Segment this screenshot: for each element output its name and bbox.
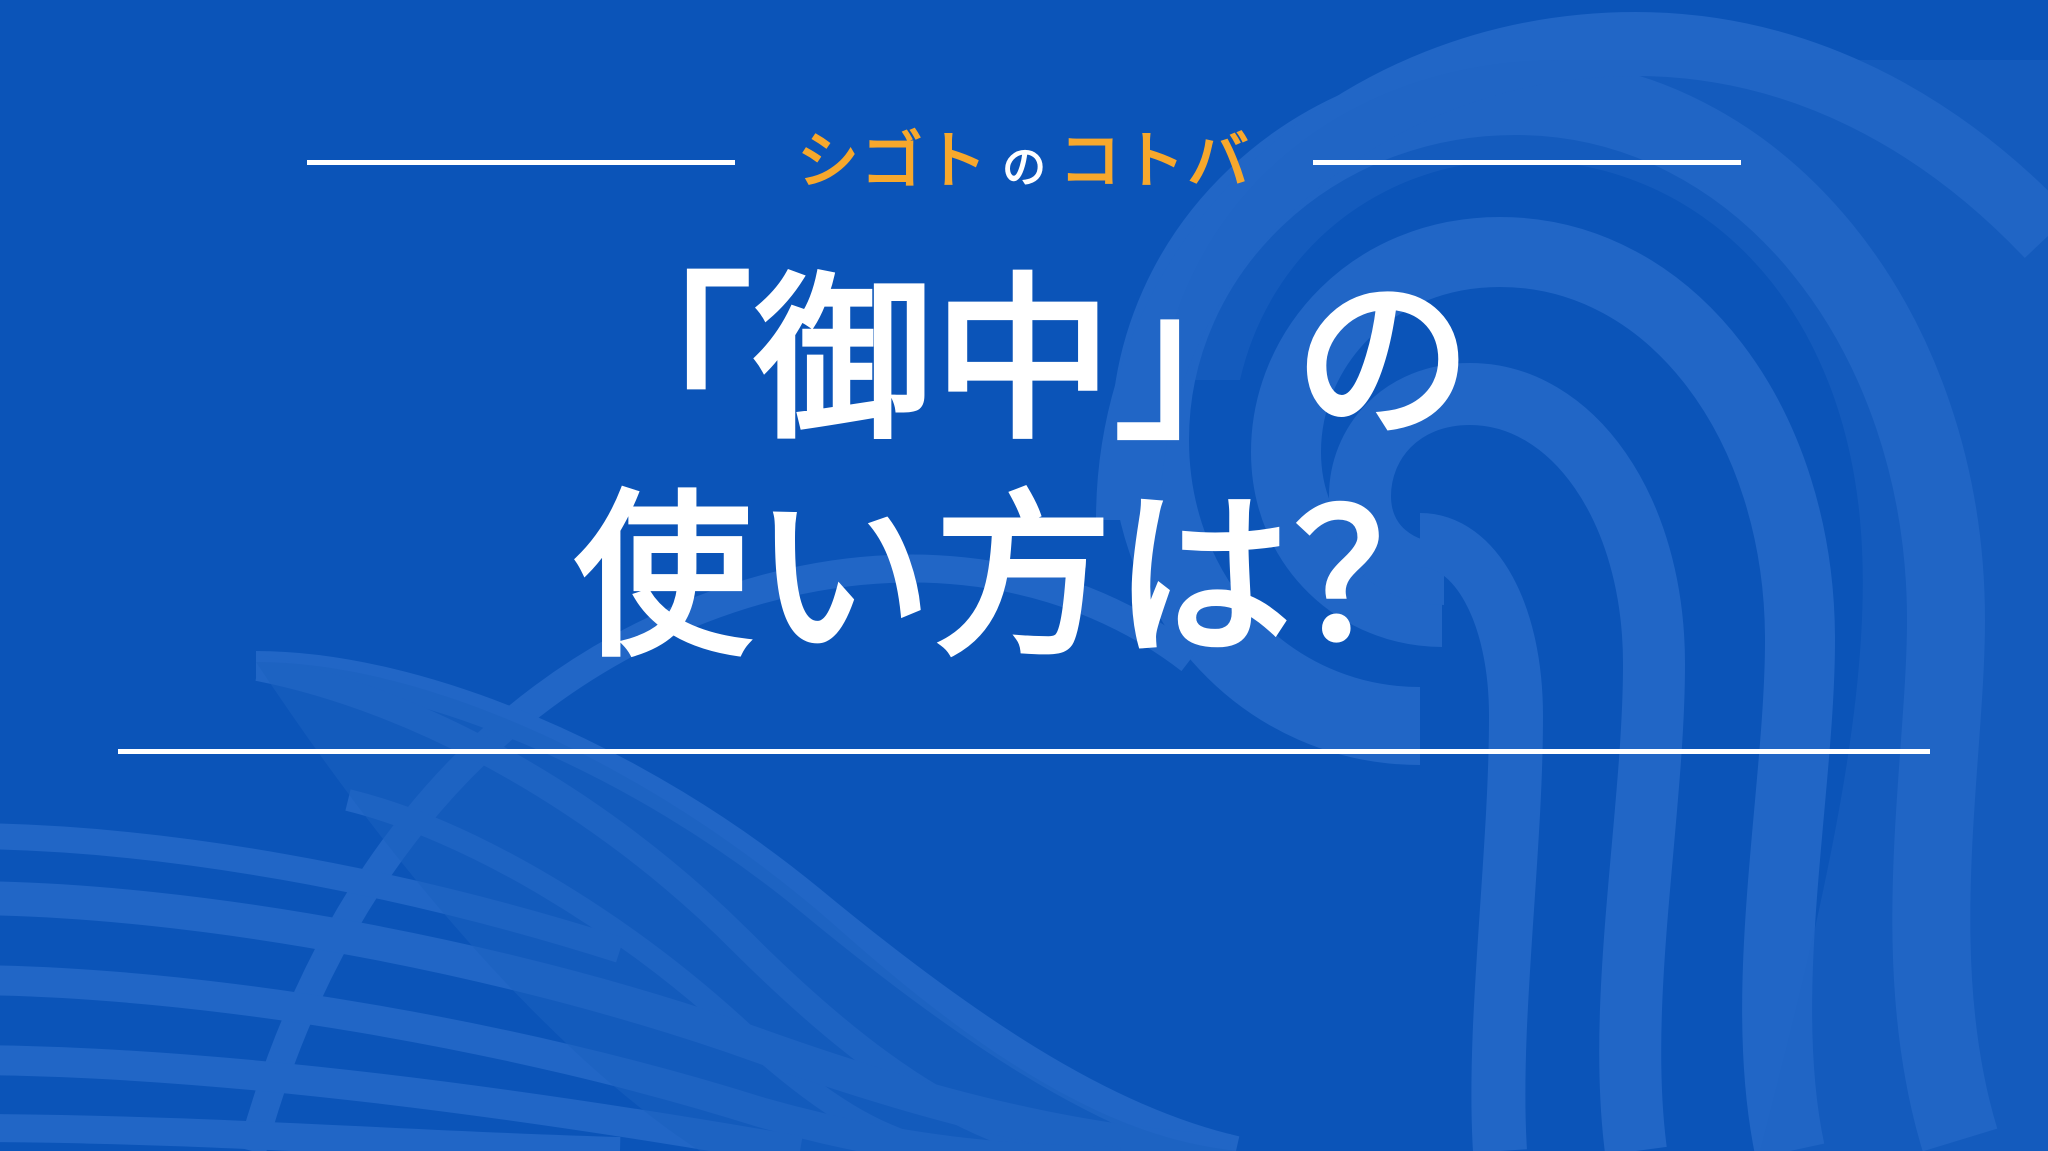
divider-left — [307, 160, 735, 165]
title-line-2: 使い方は？ — [0, 469, 2048, 686]
kicker-text: シゴト の コトバ — [797, 131, 1251, 193]
wave-leaf-shape — [256, 662, 1240, 1151]
kicker-part-2: コトバ — [1059, 131, 1251, 193]
kicker-part-1: シゴト — [797, 131, 989, 193]
divider-right — [1313, 160, 1741, 165]
title-line-1: 「御中」の — [0, 252, 2048, 469]
kicker-particle: の — [1002, 146, 1046, 190]
page-title: 「御中」の 使い方は？ — [0, 252, 2048, 686]
divider-bottom — [118, 749, 1930, 754]
kicker-header: シゴト の コトバ — [0, 126, 2048, 198]
banner-canvas: シゴト の コトバ 「御中」の 使い方は？ — [0, 0, 2048, 1151]
